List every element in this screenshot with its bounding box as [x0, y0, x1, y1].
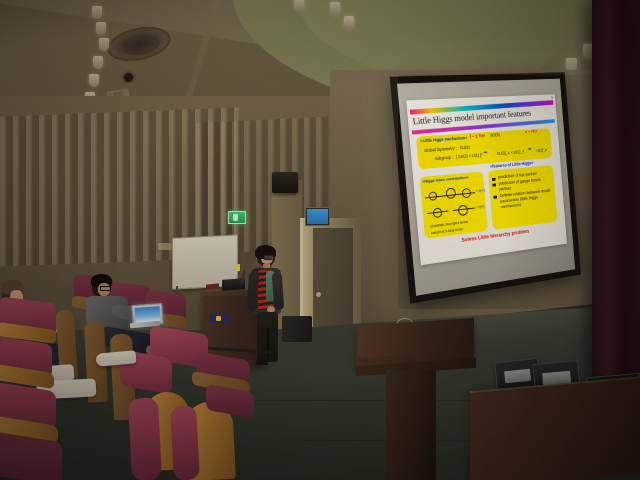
screen-surface: 5 Little Higgs model important features … [397, 79, 575, 296]
feynman-loop [445, 188, 456, 200]
presenter-right-arm [272, 272, 285, 311]
presenter-leg-split [267, 328, 269, 362]
downlight-icon [89, 74, 99, 87]
front-lectern [356, 322, 474, 480]
whiteboard-marker-tray [236, 264, 240, 271]
global-symmetry-group: SU(5) [459, 144, 469, 150]
projection-screen: 5 Little Higgs model important features … [390, 72, 581, 304]
downlight-icon [344, 16, 354, 29]
wall-plate [158, 243, 172, 250]
equipment-cart [282, 316, 312, 342]
lecture-hall-photo: 5 Little Higgs model important features … [0, 0, 640, 480]
global-symmetry-label: Global Symmetry : [424, 145, 457, 152]
subgroup-label: subgroup : [435, 155, 453, 161]
mass-contribution-heading: <Higgs mass contribution> [422, 174, 469, 183]
restroom-sign [305, 207, 330, 226]
lectern-column [386, 370, 414, 480]
presenter-left-arm [247, 272, 259, 312]
downlight-icon [96, 22, 106, 35]
audience-glasses-icon [100, 286, 111, 291]
feynman-loop [458, 204, 469, 216]
slide-box-features: prediction of top partner prediction of … [488, 165, 557, 230]
feynman-loop [461, 187, 471, 197]
vev-note: v ~ <h> [525, 129, 538, 134]
stage-curtain [592, 0, 640, 404]
podium-emblem [209, 314, 229, 323]
feynman-loop [429, 191, 438, 201]
mechanism-heading: <Little Higgs mechanism> [420, 135, 467, 143]
smoke-detector-icon [124, 73, 133, 82]
downlight-icon [93, 56, 103, 69]
lectern-column-shadow [412, 370, 436, 480]
slide-box-mass-contribution: <Higgs mass contribution> = 0(v²) = 0(v²… [419, 171, 488, 239]
feynman-result: = 0(v²) [476, 188, 485, 193]
presenter-shoe [256, 360, 268, 365]
lectern-desk-surface [358, 322, 418, 357]
end-group: U(1)_e [536, 148, 546, 153]
door-handle-icon[interactable] [316, 292, 321, 297]
feynman-loop [433, 207, 443, 218]
subgroup-group: [ SU(2) × U(1) ]² [456, 153, 482, 160]
arrow-right-icon-2: ➡ [528, 147, 532, 153]
downlight-icon [92, 6, 102, 19]
seat-cushion [128, 397, 162, 480]
scale-note: f ~ 1 TeV [470, 133, 486, 139]
slide-page-number: 5 [551, 96, 553, 100]
feynman-result-2: = 0(v²) [476, 205, 484, 210]
exit-sign [228, 211, 246, 224]
downlight-icon [330, 2, 340, 15]
arrow-right-icon: ➡ [483, 150, 487, 156]
ceiling-loudspeaker [272, 172, 298, 193]
presentation-slide: 5 Little Higgs model important features … [406, 94, 568, 265]
mass-caption-line2: cancel at 1-loop order [431, 227, 463, 235]
features-bullet-list: prediction of top partner prediction of … [492, 170, 554, 211]
standing-presenter [246, 246, 286, 366]
downlight-icon [99, 38, 109, 51]
scale-group: SO(5) [490, 132, 500, 137]
av-control-desk [470, 377, 640, 480]
presenter-glasses-icon [264, 255, 274, 260]
seat-cushion [170, 405, 200, 480]
mid-group: SU(2)_L × U(1)_Y [497, 149, 525, 156]
downlight-icon [294, 0, 304, 11]
